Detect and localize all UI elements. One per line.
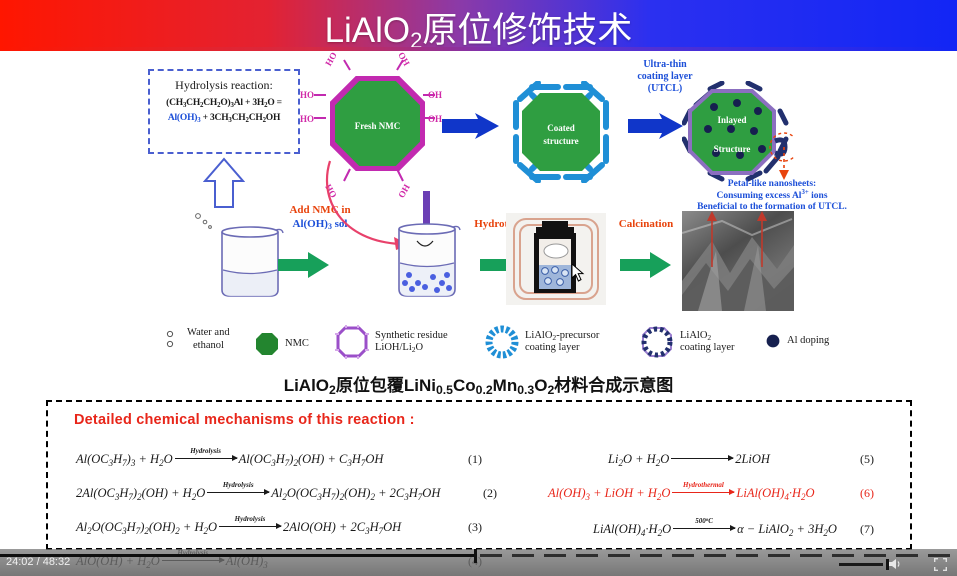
title-banner: LiAlO2原位修饰技术 <box>0 0 957 47</box>
blue-arrow-1-icon <box>442 113 500 144</box>
green-arrow-3-icon <box>620 251 672 284</box>
up-arrow-icon <box>203 157 245 214</box>
legend-item-coating: LiAlO2 coating layer <box>640 325 735 359</box>
droplet-group-icon <box>192 211 216 233</box>
page-title-formula: LiAlO2 <box>325 11 423 50</box>
hydrolysis-heading: Hydrolysis reaction: <box>150 78 298 93</box>
equation-7-number: (7) <box>860 522 874 537</box>
volume-icon[interactable] <box>889 557 903 575</box>
page-title-cn: 原位修饰技术 <box>422 11 632 50</box>
navy-ring-icon <box>640 325 674 359</box>
progress-bar-handle[interactable] <box>474 549 477 563</box>
mechanism-title: Detailed chemical mechanisms of this rea… <box>74 412 415 428</box>
equation-3-number: (3) <box>468 520 482 535</box>
equation-3: Al2O(OC3H7)2(OH)2 + H2OHydrolysis2AlO(OH… <box>76 520 401 535</box>
hydrolysis-reaction-box: Hydrolysis reaction: (CH3CH2CH2O)3Al + 3… <box>148 69 300 154</box>
equation-7: LiAl(OH)4·H2O500oCα − LiAlO2 + 3H2O <box>593 522 837 537</box>
equation-6: Al(OH)3 + LiOH + H2OHydrothermalLiAl(OH)… <box>548 486 815 501</box>
legend-label-synthetic-residue: Synthetic residue LiOH/Li2O <box>375 330 448 355</box>
equation-5: Li2O + H2O2LiOH <box>608 452 770 467</box>
oh-label: OH <box>428 114 442 124</box>
legend-label-precursor: LiAlO2-precursor coating layer <box>525 330 599 355</box>
legend-label-nmc: NMC <box>285 338 309 351</box>
beaker-2-stirrer-icon <box>385 191 469 301</box>
time-display: 24:02 / 48:32 <box>6 556 70 568</box>
mechanism-box: Detailed chemical mechanisms of this rea… <box>46 400 912 550</box>
legend-item-precursor: LiAlO2-precursor coating layer <box>485 325 599 359</box>
hydrolysis-products: Al(OH)3 + 3CH3CH2CH2OH <box>150 113 298 123</box>
legend-item-nmc: NMC <box>255 332 309 356</box>
legend-precursor-l1: LiAlO2-precursor <box>525 330 599 341</box>
green-octagon-icon <box>255 332 279 356</box>
oh-label: HO <box>300 114 314 124</box>
figure-caption: LiAlO2原位包覆LiNi0.5Co0.2Mn0.3O2材料合成示意图 <box>0 371 957 396</box>
navy-dot-icon <box>765 333 781 349</box>
red-arrow-markers-icon <box>700 211 790 269</box>
coated-structure-particle: Coated structure <box>510 81 612 188</box>
legend: Water and ethanol NMC Synthetic re <box>165 323 925 363</box>
volume-slider[interactable] <box>839 563 883 566</box>
video-player-controls[interactable]: 24:02 / 48:32 <box>0 549 957 576</box>
droplet-icon <box>165 329 181 351</box>
legend-label-coating: LiAlO2 coating layer <box>680 330 735 355</box>
progress-bar-played <box>0 554 474 557</box>
oh-label: OH <box>428 90 442 100</box>
autoclave-image <box>506 213 606 305</box>
slide-content: Hydrolysis reaction: (CH3CH2CH2O)3Al + 3… <box>0 51 957 549</box>
blue-gear-ring-icon <box>485 325 519 359</box>
equation-2: 2Al(OC3H7)2(OH) + H2OHydrolysisAl2O(OC3H… <box>76 486 440 501</box>
petal-nanosheet-note: Petal-like nanosheets: Consuming excess … <box>672 179 872 214</box>
orange-down-arrow-icon <box>776 147 792 181</box>
hydrolysis-reactants: (CH3CH2CH2O)3Al + 3H2O = <box>150 98 298 108</box>
page-title: LiAlO2原位修饰技术 <box>0 2 957 53</box>
legend-item-al-doping: Al doping <box>765 333 829 349</box>
oh-label: HO <box>300 90 314 100</box>
mouse-cursor <box>572 264 586 282</box>
equation-5-number: (5) <box>860 452 874 467</box>
legend-label-lioh: LiOH/Li2O <box>375 342 423 353</box>
legend-item-synthetic-residue: Synthetic residue LiOH/Li2O <box>335 325 448 359</box>
legend-coating-l1: LiAlO2 <box>680 330 711 341</box>
legend-label-al-doping: Al doping <box>787 335 829 348</box>
blue-arrow-2-icon <box>628 113 684 144</box>
step-calcination-label: Calcination <box>608 217 684 231</box>
equation-1-number: (1) <box>468 452 482 467</box>
petal-note-line2: Consuming excess Al3+ ions <box>716 191 827 201</box>
fullscreen-icon[interactable] <box>934 558 947 576</box>
legend-label-water: Water and ethanol <box>187 327 230 352</box>
equation-2-number: (2) <box>483 486 497 501</box>
purple-octagon-icon <box>335 325 369 359</box>
legend-item-water: Water and ethanol <box>165 327 230 352</box>
equation-1: Al(OC3H7)3 + H2OHydrolysisAl(OC3H7)2(OH)… <box>76 452 383 467</box>
equation-6-number: (6) <box>860 486 874 501</box>
